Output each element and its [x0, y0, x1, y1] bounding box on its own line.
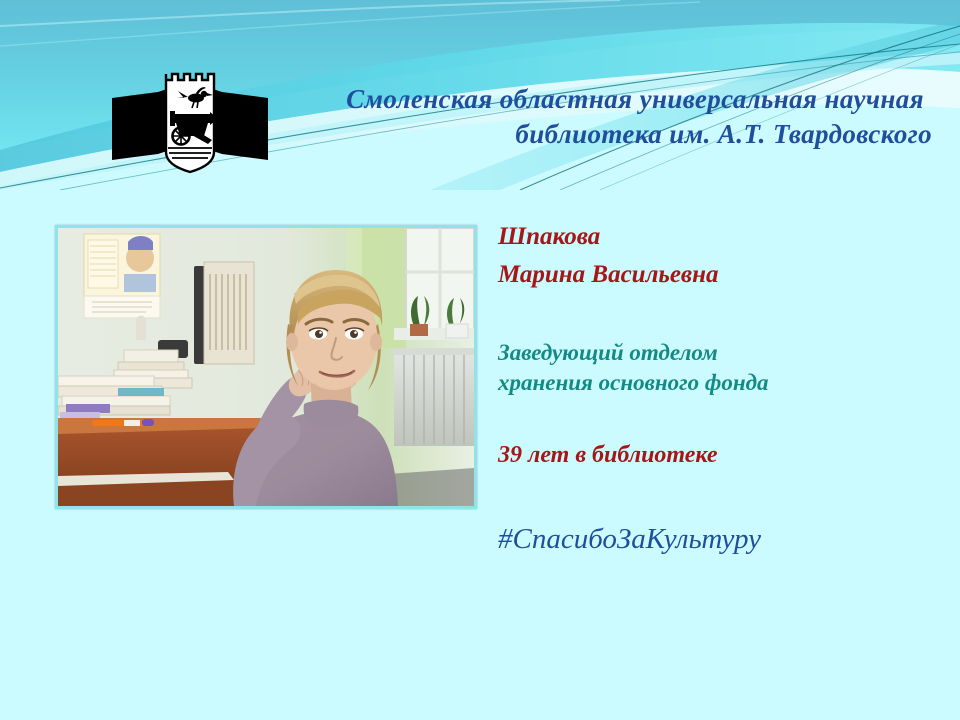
- organization-title: Смоленская областная универсальная научн…: [300, 82, 940, 152]
- person-position: Заведующий отделом хранения основного фо…: [498, 338, 948, 398]
- person-info: Шпакова Марина Васильевна Заведующий отд…: [498, 218, 948, 556]
- book-right-icon: [210, 88, 268, 160]
- years-of-service: 39 лет в библиотеке: [498, 442, 948, 469]
- person-surname: Шпакова: [498, 218, 948, 256]
- library-logo: [92, 62, 288, 177]
- title-line-1: Смоленская областная универсальная научн…: [300, 82, 940, 117]
- portrait-photo: [55, 225, 477, 509]
- campaign-hashtag: #СпасибоЗаКультуру: [498, 523, 948, 556]
- title-line-2: библиотека им. А.Т. Твардовского: [300, 117, 940, 152]
- person-given-patronymic: Марина Васильевна: [498, 256, 948, 294]
- smolensk-coat-of-arms-icon: [166, 74, 218, 172]
- presentation-slide: Смоленская областная универсальная научн…: [0, 0, 960, 720]
- person-name: Шпакова Марина Васильевна: [498, 218, 948, 294]
- book-left-icon: [112, 88, 170, 160]
- position-line-2: хранения основного фонда: [498, 368, 948, 398]
- position-line-1: Заведующий отделом: [498, 338, 948, 368]
